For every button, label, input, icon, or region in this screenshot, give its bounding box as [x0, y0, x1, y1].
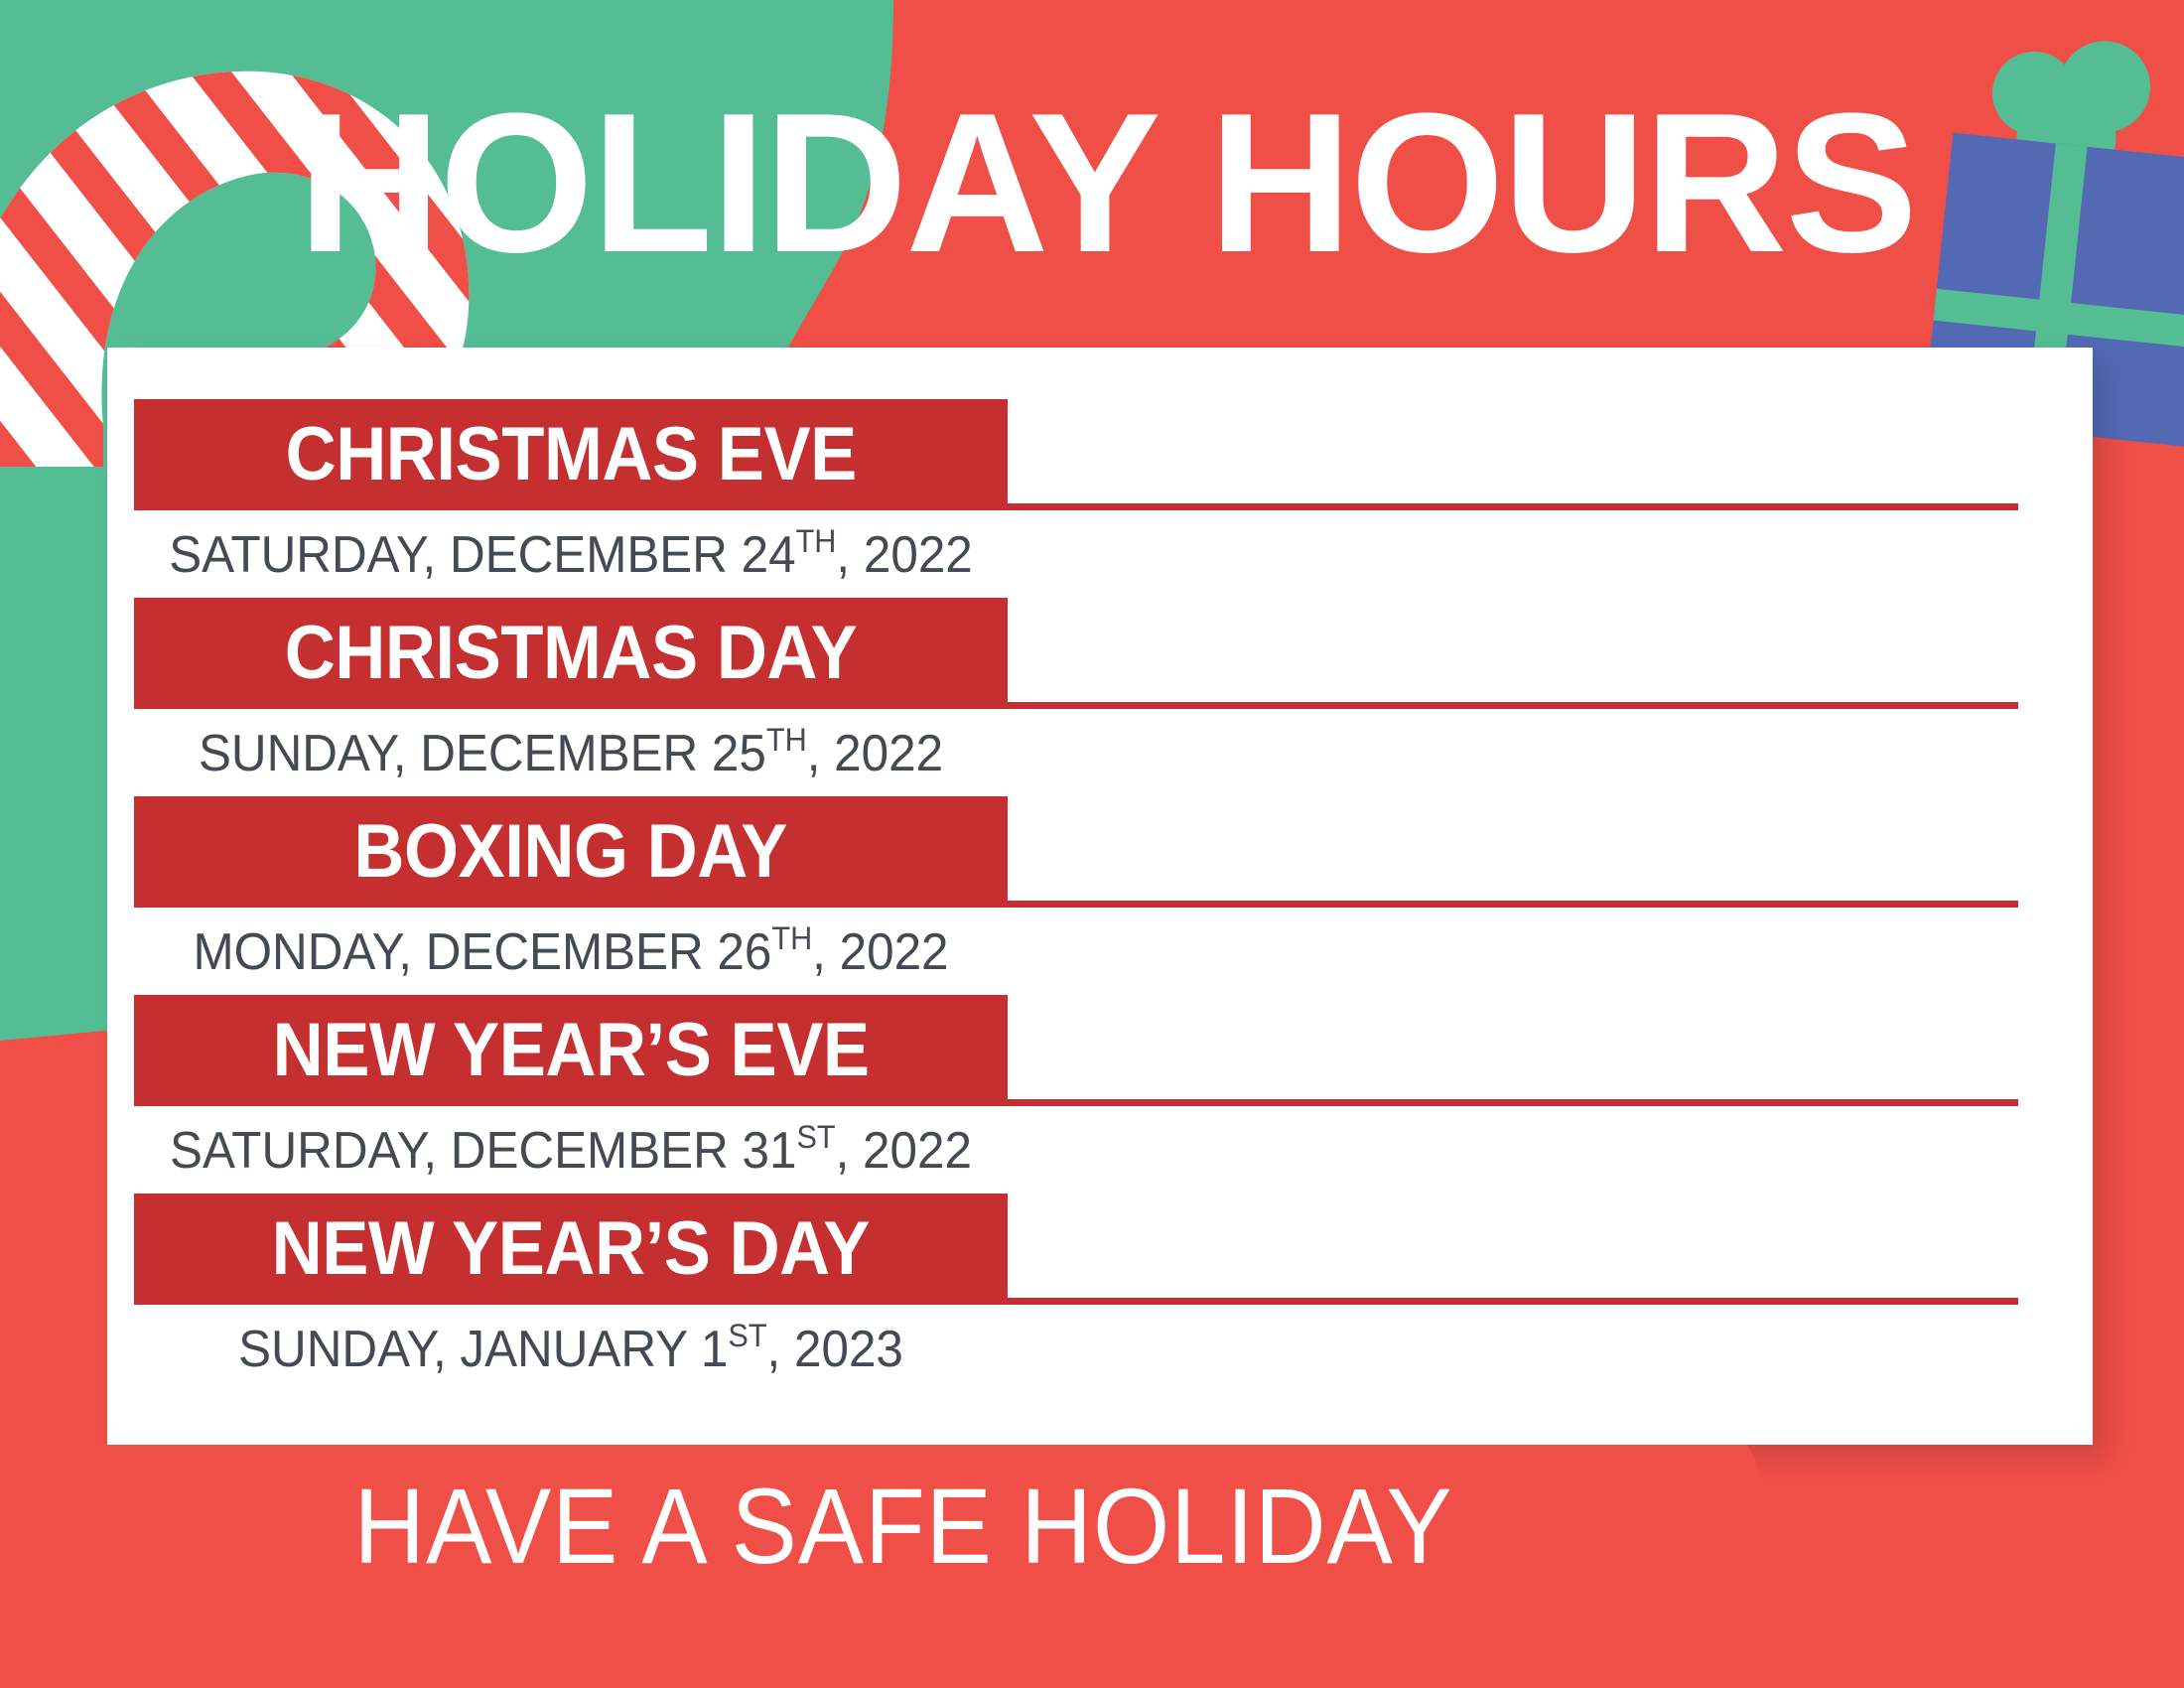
hours-rows: CHRISTMAS EVE SATURDAY, DECEMBER 24TH, 2… — [107, 348, 2093, 1445]
holiday-banner: BOXING DAY — [134, 796, 1008, 908]
holiday-date: SUNDAY, DECEMBER 25TH, 2022 — [156, 709, 986, 798]
holiday-date: SATURDAY, DECEMBER 31ST, 2022 — [156, 1106, 986, 1196]
holiday-hours-poster: HOLIDAY HOURS CHRISTMAS EVE SATURDAY, DE… — [0, 0, 2184, 1688]
holiday-name: CHRISTMAS EVE — [285, 416, 856, 493]
date-weekday: SATURDAY, DECEMBER 24 — [169, 526, 795, 584]
date-year: , 2022 — [836, 1122, 972, 1180]
date-weekday: SATURDAY, DECEMBER 31 — [170, 1122, 796, 1180]
date-weekday: SUNDAY, JANUARY 1 — [238, 1321, 728, 1378]
holiday-date: SATURDAY, DECEMBER 24TH, 2022 — [156, 510, 986, 600]
holiday-banner: NEW YEAR’S EVE — [134, 995, 1008, 1106]
date-weekday: SUNDAY, DECEMBER 25 — [199, 725, 766, 782]
table-row: CHRISTMAS EVE SATURDAY, DECEMBER 24TH, 2… — [107, 399, 2093, 610]
holiday-name: BOXING DAY — [354, 813, 788, 891]
holiday-banner: NEW YEAR’S DAY — [134, 1194, 1008, 1305]
table-row: NEW YEAR’S DAY SUNDAY, JANUARY 1ST, 2023 — [107, 1194, 2093, 1404]
date-ordinal: ST — [728, 1307, 766, 1364]
holiday-banner: CHRISTMAS EVE — [134, 399, 1008, 510]
date-year: , 2023 — [767, 1321, 903, 1378]
date-ordinal: TH — [771, 910, 812, 967]
hours-rule-line — [1008, 503, 2018, 510]
table-row: NEW YEAR’S EVE SATURDAY, DECEMBER 31ST, … — [107, 995, 2093, 1205]
holiday-name: CHRISTMAS DAY — [285, 615, 857, 692]
holiday-name: NEW YEAR’S DAY — [272, 1210, 870, 1288]
date-weekday: MONDAY, DECEMBER 26 — [193, 923, 771, 981]
holiday-date: SUNDAY, JANUARY 1ST, 2023 — [156, 1305, 986, 1394]
hours-rule-line — [1008, 702, 2018, 709]
date-year: , 2022 — [807, 725, 943, 782]
hours-rule-line — [1008, 1099, 2018, 1106]
date-year: , 2022 — [812, 923, 948, 981]
hours-rule-line — [1008, 901, 2018, 908]
date-year: , 2022 — [836, 526, 972, 584]
date-ordinal: TH — [766, 711, 807, 769]
table-row: BOXING DAY MONDAY, DECEMBER 26TH, 2022 — [107, 796, 2093, 1007]
holiday-date: MONDAY, DECEMBER 26TH, 2022 — [156, 908, 986, 997]
date-ordinal: TH — [796, 512, 837, 570]
table-row: CHRISTMAS DAY SUNDAY, DECEMBER 25TH, 202… — [107, 598, 2093, 808]
page-title: HOLIDAY HOURS — [298, 79, 1966, 298]
footer-message: HAVE A SAFE HOLIDAY — [72, 1468, 1734, 1585]
date-ordinal: ST — [796, 1108, 835, 1166]
holiday-banner: CHRISTMAS DAY — [134, 598, 1008, 709]
hours-card: CHRISTMAS EVE SATURDAY, DECEMBER 24TH, 2… — [107, 348, 2093, 1445]
hours-rule-line — [1008, 1298, 2018, 1305]
holiday-name: NEW YEAR’S EVE — [273, 1012, 870, 1089]
